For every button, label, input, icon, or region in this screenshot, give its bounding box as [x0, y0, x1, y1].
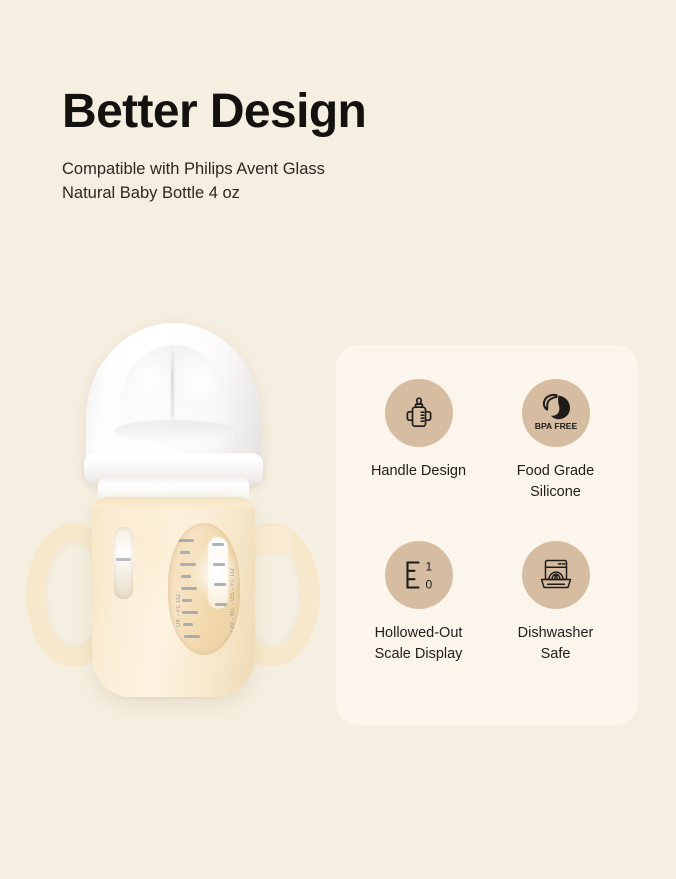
feature-grid: Handle Design BPA FREE Food Grade Silico…: [336, 345, 638, 725]
scale-tick: [180, 551, 190, 554]
feature-label-line-2: Safe: [518, 644, 594, 665]
scale-tick: [183, 623, 193, 626]
bottle-nipple-seam: [171, 347, 174, 419]
bpa-free-badge-text: BPA FREE: [534, 421, 577, 431]
feature-icon-background: [385, 379, 453, 447]
bottle-sleeve-lip: [92, 497, 255, 510]
scale-label-right: 120 - ML - US - FL OZ: [230, 567, 236, 633]
scale-tick: [213, 563, 225, 566]
feature-label: Dishwasher Safe: [518, 623, 594, 666]
feature-label-line-1: Food Grade: [517, 461, 594, 482]
feature-card: Handle Design BPA FREE Food Grade Silico…: [336, 345, 638, 725]
feature-label: Handle Design: [371, 461, 466, 482]
scale-tick: [182, 611, 198, 614]
bottle-illustration: UK - FL OZ 120 - ML - US - FL OZ: [16, 305, 326, 715]
feature-icon-background: [522, 541, 590, 609]
bottle-side-window: [114, 527, 133, 599]
scale-tick: [214, 583, 226, 586]
scale-top-number: 1: [425, 560, 432, 574]
baby-bottle-handle-icon: [400, 394, 438, 432]
feature-food-grade-silicone[interactable]: BPA FREE Food Grade Silicone: [487, 379, 624, 533]
feature-label-line-1: Dishwasher: [518, 623, 594, 644]
scale-tick: [181, 575, 191, 578]
scale-tick: [184, 635, 200, 638]
subtitle-line-2: Natural Baby Bottle 4 oz: [62, 181, 392, 205]
bottle-scale-window: UK - FL OZ 120 - ML - US - FL OZ: [168, 523, 240, 655]
scale-bottom-number: 0: [425, 578, 432, 592]
feature-label-line-1: Handle Design: [371, 461, 466, 482]
feature-dishwasher-safe[interactable]: Dishwasher Safe: [487, 541, 624, 695]
page-title: Better Design: [62, 86, 582, 138]
bpa-free-leaf-icon: BPA FREE: [534, 392, 578, 434]
scale-label-left: UK - FL OZ: [176, 594, 182, 627]
bottle-glass-highlight: [112, 483, 176, 492]
bottle-nipple-base: [114, 420, 234, 442]
scale-tick: [180, 563, 196, 566]
scale-tick: [212, 543, 224, 546]
scale-tick: [182, 599, 192, 602]
feature-hollowed-out-scale-display[interactable]: 1 0 Hollowed-Out Scale Display: [350, 541, 487, 695]
feature-label: Hollowed-Out Scale Display: [375, 623, 463, 666]
page-subtitle: Compatible with Philips Avent Glass Natu…: [62, 157, 392, 205]
bottle-side-window-mark: [116, 558, 131, 561]
feature-label-line-2: Silicone: [517, 482, 594, 503]
feature-label-line-2: Scale Display: [375, 644, 463, 665]
page-header: Better Design Compatible with Philips Av…: [62, 86, 582, 205]
scale-tick: [215, 603, 227, 606]
scale-window-gloss: [208, 537, 228, 609]
scale-tick: [178, 539, 194, 542]
product-image: UK - FL OZ 120 - ML - US - FL OZ: [16, 305, 326, 715]
feature-icon-background: 1 0: [385, 541, 453, 609]
measuring-scale-icon: 1 0: [399, 556, 439, 594]
feature-handle-design[interactable]: Handle Design: [350, 379, 487, 533]
subtitle-line-1: Compatible with Philips Avent Glass: [62, 157, 392, 181]
feature-icon-background: BPA FREE: [522, 379, 590, 447]
dishwasher-icon: [535, 556, 577, 594]
feature-label-line-1: Hollowed-Out: [375, 623, 463, 644]
feature-label: Food Grade Silicone: [517, 461, 594, 504]
scale-tick: [181, 587, 197, 590]
